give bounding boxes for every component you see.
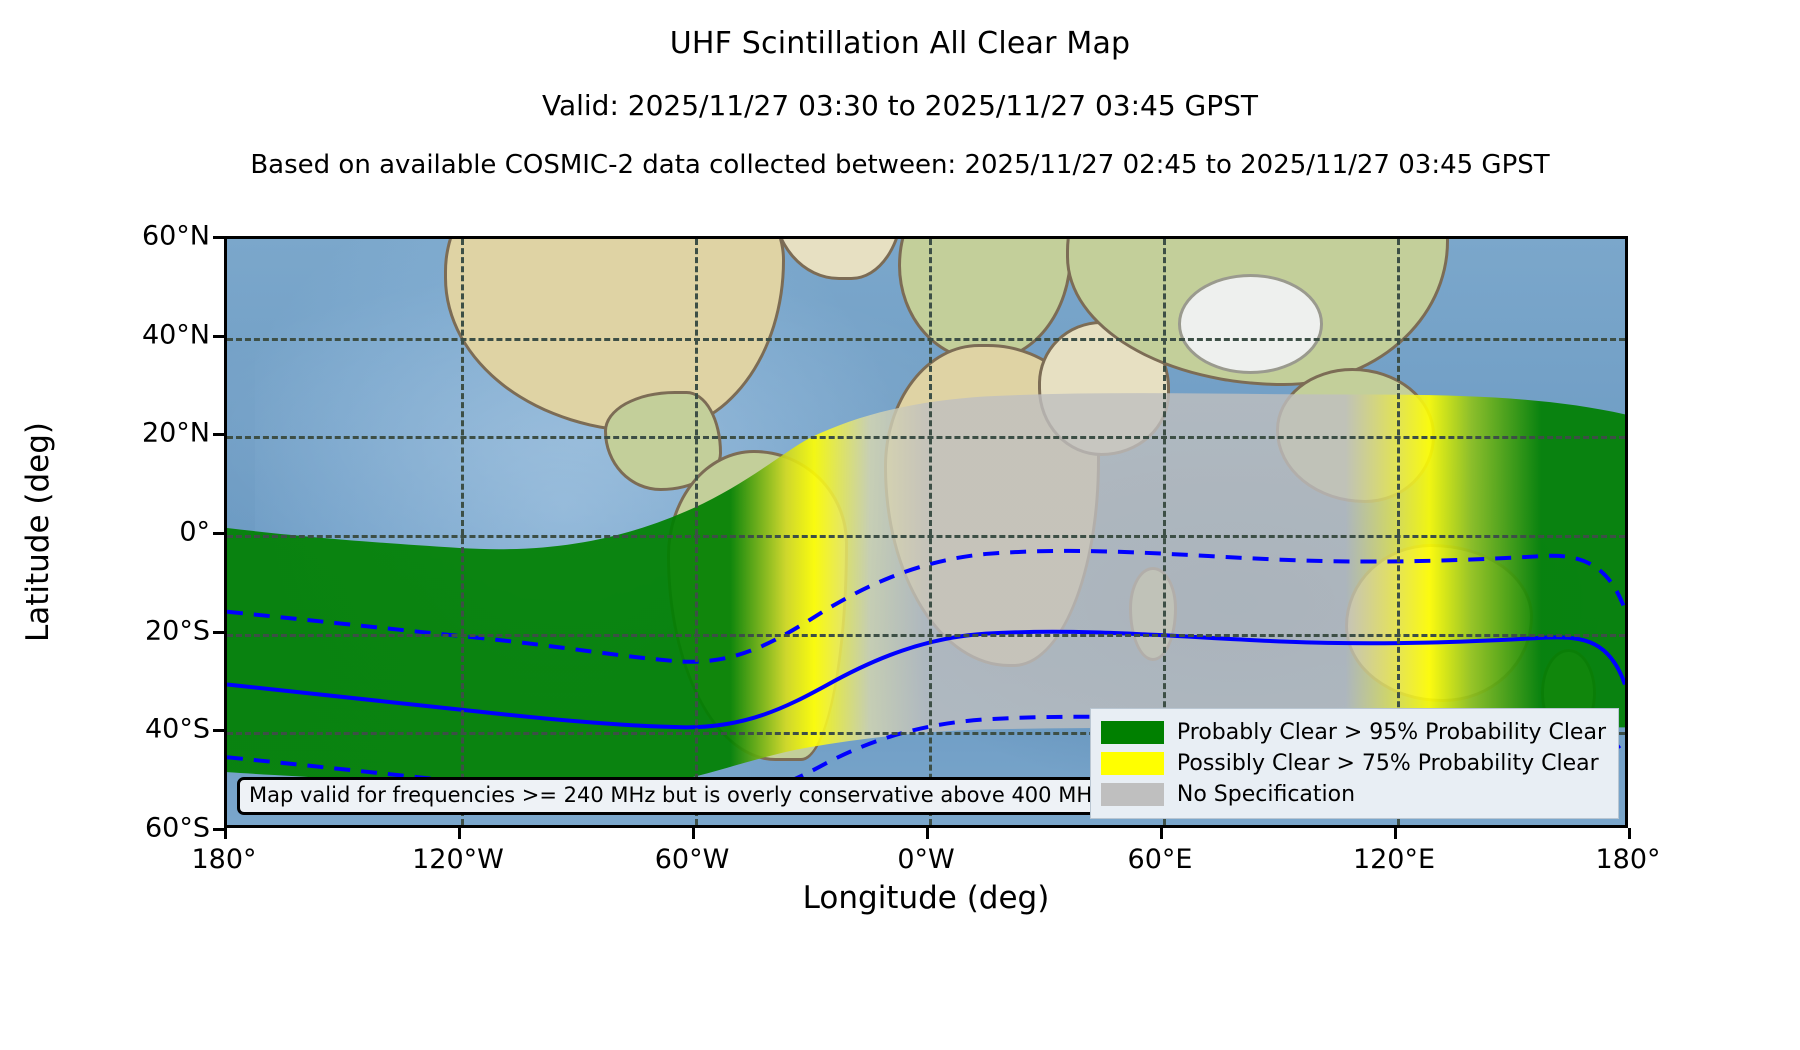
- x-tick-label: 60°W: [655, 844, 730, 875]
- legend-swatch-no-specification: [1101, 783, 1164, 806]
- x-tick-label: 120°E: [1353, 844, 1435, 875]
- grid-line-latitude: [227, 535, 1625, 538]
- grid-line-longitude: [461, 239, 464, 825]
- x-tick-label: 120°W: [412, 844, 504, 875]
- y-tick-label: 40°N: [142, 319, 210, 350]
- x-tick-mark: [1394, 828, 1397, 839]
- y-tick-mark: [213, 335, 224, 338]
- y-tick-mark: [213, 433, 224, 436]
- y-tick-mark: [213, 532, 224, 535]
- grid-line-longitude: [695, 239, 698, 825]
- y-tick-mark: [213, 828, 224, 831]
- legend-swatch-probably-clear: [1101, 721, 1164, 744]
- x-tick-mark: [692, 828, 695, 839]
- page-title: UHF Scintillation All Clear Map: [0, 26, 1800, 61]
- grid-line-longitude: [929, 239, 932, 825]
- grid-line-latitude: [227, 634, 1625, 637]
- y-tick-label: 60°N: [142, 221, 210, 252]
- y-axis-title: Latitude (deg): [20, 422, 56, 642]
- y-tick-mark: [213, 236, 224, 239]
- legend-swatch-possibly-clear: [1101, 752, 1164, 775]
- legend-item: No Specification: [1101, 779, 1606, 810]
- legend-label: Possibly Clear > 75% Probability Clear: [1177, 751, 1599, 776]
- legend-label: No Specification: [1177, 782, 1355, 807]
- x-tick-label: 180°: [191, 844, 256, 875]
- map-plot-area[interactable]: Map valid for frequencies >= 240 MHz but…: [224, 236, 1628, 828]
- x-tick-mark: [1628, 828, 1631, 839]
- x-tick-mark: [224, 828, 227, 839]
- map-canvas: Map valid for frequencies >= 240 MHz but…: [227, 239, 1625, 825]
- x-tick-mark: [926, 828, 929, 839]
- map-legend: Probably Clear > 95% Probability Clear P…: [1090, 708, 1619, 819]
- band-fill-west: [227, 239, 926, 825]
- legend-item: Possibly Clear > 75% Probability Clear: [1101, 748, 1606, 779]
- y-tick-label: 20°S: [145, 615, 210, 646]
- y-tick-label: 0°: [179, 517, 210, 548]
- legend-item: Probably Clear > 95% Probability Clear: [1101, 717, 1606, 748]
- y-tick-label: 60°S: [145, 813, 210, 844]
- x-tick-label: 180°: [1595, 844, 1660, 875]
- x-tick-label: 60°E: [1128, 844, 1193, 875]
- validity-subtitle: Valid: 2025/11/27 03:30 to 2025/11/27 03…: [0, 89, 1800, 122]
- grid-line-latitude: [227, 338, 1625, 341]
- legend-label: Probably Clear > 95% Probability Clear: [1177, 720, 1606, 745]
- frequency-note-box: Map valid for frequencies >= 240 MHz but…: [237, 777, 1115, 815]
- y-tick-label: 40°S: [145, 714, 210, 745]
- y-tick-label: 20°N: [142, 418, 210, 449]
- grid-line-latitude: [227, 436, 1625, 439]
- x-tick-mark: [458, 828, 461, 839]
- x-axis-title: Longitude (deg): [803, 880, 1050, 916]
- title-block: UHF Scintillation All Clear Map Valid: 2…: [0, 0, 1800, 180]
- data-source-subtitle: Based on available COSMIC-2 data collect…: [0, 150, 1800, 180]
- y-tick-mark: [213, 631, 224, 634]
- x-tick-mark: [1160, 828, 1163, 839]
- y-tick-mark: [213, 729, 224, 732]
- x-tick-label: 0°W: [897, 844, 954, 875]
